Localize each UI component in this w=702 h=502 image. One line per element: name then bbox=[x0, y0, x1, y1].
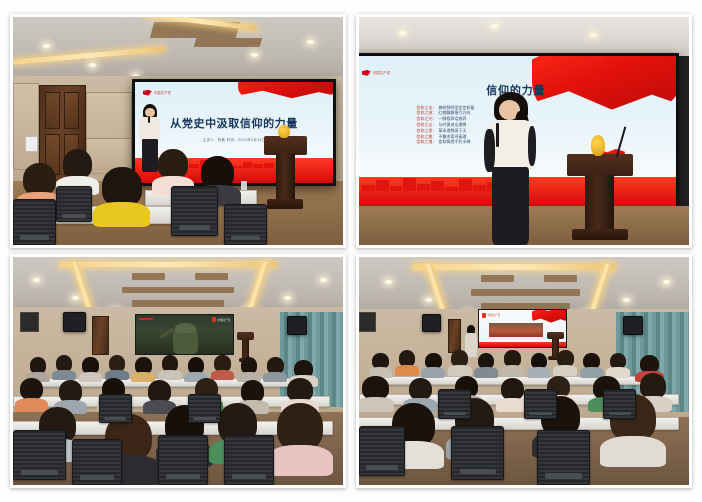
podium-top bbox=[567, 154, 633, 177]
ceiling bbox=[359, 17, 689, 56]
historical-photo bbox=[489, 323, 543, 337]
ceiling-panel bbox=[132, 300, 224, 307]
chair bbox=[438, 389, 471, 419]
bullet-item: 信仰之光： 一脉相承话修养 bbox=[416, 117, 474, 121]
chair bbox=[56, 186, 92, 222]
podium-top bbox=[264, 136, 307, 155]
presenter-skirt bbox=[492, 167, 529, 245]
head bbox=[158, 149, 188, 179]
audience-member bbox=[56, 355, 73, 380]
photo-top-right[interactable]: 中国共产党 信仰的力量 信仰之本： 旗帜鲜明坚定信仰基 信仰之源： 红旗飘飘指引… bbox=[356, 14, 692, 248]
audience-member bbox=[241, 357, 258, 382]
shoulders bbox=[93, 202, 150, 227]
presenter-skirt bbox=[142, 139, 159, 172]
ceiling-panel bbox=[544, 275, 577, 282]
audience-member bbox=[583, 353, 600, 378]
bullet-value: 红旗飘飘指引方向 bbox=[438, 111, 470, 115]
bullet-key: 信仰之源： bbox=[416, 111, 436, 115]
audience-member bbox=[102, 167, 142, 226]
speaker-box bbox=[63, 312, 86, 333]
ceiling-panel bbox=[193, 38, 262, 47]
downlight bbox=[89, 63, 96, 67]
ceiling-panel bbox=[122, 287, 234, 294]
downlight bbox=[320, 278, 327, 282]
bullet-value: 信仰铸就不朽丰碑 bbox=[438, 140, 470, 144]
bullet-key: 信仰之思： bbox=[416, 129, 436, 133]
bullet-value: 与时俱进论理想 bbox=[438, 123, 466, 127]
lecture-hall-scene-4: 中国共产党 bbox=[359, 257, 689, 485]
screen-watermark: 中国共产党 bbox=[482, 313, 500, 318]
cpc-logo: 中国共产党 bbox=[362, 70, 390, 76]
audience-member bbox=[135, 357, 152, 382]
audience-member bbox=[372, 353, 389, 378]
downlight bbox=[284, 296, 291, 300]
downlight bbox=[33, 278, 40, 282]
podium bbox=[264, 136, 307, 209]
chair bbox=[188, 394, 221, 424]
bullet-value: 一脉相承话修养 bbox=[438, 117, 466, 121]
logo-label: 中国共产党 bbox=[373, 70, 390, 75]
door-pane bbox=[64, 92, 79, 128]
chair bbox=[171, 186, 217, 236]
bullet-item: 信仰之源： 红旗飘飘指引方向 bbox=[416, 111, 474, 115]
flag-icon bbox=[143, 90, 152, 96]
audience-member bbox=[162, 355, 179, 380]
head bbox=[102, 167, 142, 206]
audience-member bbox=[504, 350, 521, 375]
downlight bbox=[425, 298, 432, 302]
chair bbox=[224, 204, 267, 245]
flag-icon bbox=[482, 313, 486, 318]
slide-title: 从党史中汲取信仰的力量 bbox=[135, 115, 334, 131]
podium bbox=[567, 154, 633, 241]
ceiling-panel bbox=[471, 289, 580, 296]
presenter-scarf-right bbox=[528, 126, 536, 166]
side-door bbox=[448, 319, 461, 353]
wall-vent bbox=[359, 312, 376, 333]
lecture-hall-scene-3: 中国共产党 bbox=[13, 257, 343, 485]
wall-notice bbox=[25, 136, 38, 152]
audience-member bbox=[109, 355, 126, 380]
skyline-bars bbox=[362, 178, 500, 191]
audience-member bbox=[610, 353, 627, 378]
audience-member bbox=[399, 350, 416, 375]
audience-member bbox=[478, 353, 495, 378]
microphone bbox=[496, 123, 499, 147]
ceiling-panel bbox=[132, 273, 165, 280]
bullet-key: 信仰之光： bbox=[416, 117, 436, 121]
audience-member bbox=[82, 357, 99, 382]
downlight bbox=[307, 40, 314, 44]
downlight bbox=[663, 280, 670, 284]
lecture-hall-scene-1: 中国共产党 从党史中汲取信仰的力量 主讲人：陈敏 时间：2021年5月18日 bbox=[13, 17, 343, 245]
audience-member bbox=[214, 355, 231, 380]
chair bbox=[451, 426, 504, 481]
podium-stem bbox=[242, 339, 249, 358]
downlight bbox=[590, 33, 597, 37]
presenter-scarf-left bbox=[484, 129, 495, 172]
downlight bbox=[491, 24, 498, 28]
audience-member bbox=[362, 376, 388, 412]
bullet-item: 信仰之魂： 信仰铸就不朽丰碑 bbox=[416, 140, 474, 144]
lecture-hall-scene-2: 中国共产党 信仰的力量 信仰之本： 旗帜鲜明坚定信仰基 信仰之源： 红旗飘飘指引… bbox=[359, 17, 689, 245]
logo-label: 中国共产党 bbox=[154, 90, 171, 95]
audience-member bbox=[501, 378, 524, 412]
downlight bbox=[72, 296, 79, 300]
podium-emblem bbox=[278, 125, 289, 138]
watermark-label: 中国共产党 bbox=[217, 318, 230, 322]
soldier-helmet bbox=[175, 323, 196, 333]
chair bbox=[13, 430, 66, 480]
chair bbox=[359, 426, 405, 476]
ceiling-light-strip bbox=[59, 262, 277, 268]
watermark-label: 中国共产党 bbox=[487, 313, 500, 317]
speaker-box bbox=[287, 316, 307, 334]
ceiling-panel bbox=[481, 303, 570, 310]
chair bbox=[224, 435, 274, 485]
ceiling-panel bbox=[195, 273, 228, 280]
podium-base bbox=[267, 199, 303, 208]
ceiling-panel bbox=[481, 275, 514, 282]
bullet-list: 信仰之本： 旗帜鲜明坚定信仰基 信仰之源： 红旗飘飘指引方向 信仰之光： 一脉相… bbox=[416, 106, 474, 145]
photo-collage: 中国共产党 从党史中汲取信仰的力量 主讲人：陈敏 时间：2021年5月18日 bbox=[0, 0, 702, 502]
cpc-logo: 中国共产党 bbox=[143, 90, 171, 96]
wall-vent bbox=[20, 312, 40, 333]
chair bbox=[158, 435, 208, 485]
podium-emblem bbox=[591, 135, 606, 156]
wall-panel bbox=[13, 83, 39, 170]
speaker-box bbox=[623, 316, 643, 334]
presenter bbox=[484, 92, 537, 245]
podium-base bbox=[572, 229, 627, 240]
photo-bottom-left[interactable]: 中国共产党 bbox=[10, 254, 346, 488]
chair bbox=[537, 430, 590, 485]
podium-stem bbox=[585, 175, 614, 230]
bullet-key: 信仰之论： bbox=[416, 123, 436, 127]
flag-icon bbox=[212, 317, 216, 322]
ceiling-light-strip bbox=[412, 264, 617, 270]
audience-member bbox=[531, 353, 548, 378]
bullet-value: 革命理想高于天 bbox=[438, 129, 466, 133]
photo-top-left[interactable]: 中国共产党 从党史中汲取信仰的力量 主讲人：陈敏 时间：2021年5月18日 bbox=[10, 14, 346, 248]
chair bbox=[13, 199, 56, 245]
audience-member-foreground bbox=[277, 403, 323, 476]
chair bbox=[603, 389, 636, 419]
screen-watermark: 中国共产党 bbox=[212, 317, 230, 322]
red-flag-graphic bbox=[238, 82, 333, 106]
bullet-item: 信仰之思： 革命理想高于天 bbox=[416, 129, 474, 133]
bullet-item: 信仰之论： 与时俱进论理想 bbox=[416, 123, 474, 127]
downlight bbox=[623, 298, 630, 302]
chair bbox=[524, 389, 557, 419]
audience-member bbox=[451, 350, 468, 375]
podium-stem bbox=[276, 153, 295, 200]
chair bbox=[72, 439, 122, 485]
head bbox=[63, 149, 93, 179]
audience-member bbox=[425, 353, 442, 378]
audience-member bbox=[267, 357, 284, 382]
bullet-key: 信仰之魂： bbox=[416, 140, 436, 144]
photo-bottom-right[interactable]: 中国共产党 bbox=[356, 254, 692, 488]
flag-icon bbox=[362, 70, 371, 76]
chair bbox=[99, 394, 132, 424]
led-screen-video[interactable]: 中国共产党 bbox=[135, 314, 234, 355]
side-door bbox=[92, 316, 109, 355]
downlight bbox=[399, 31, 406, 35]
audience-member bbox=[557, 350, 574, 375]
speaker-box bbox=[422, 314, 442, 332]
door-pane bbox=[45, 92, 60, 128]
